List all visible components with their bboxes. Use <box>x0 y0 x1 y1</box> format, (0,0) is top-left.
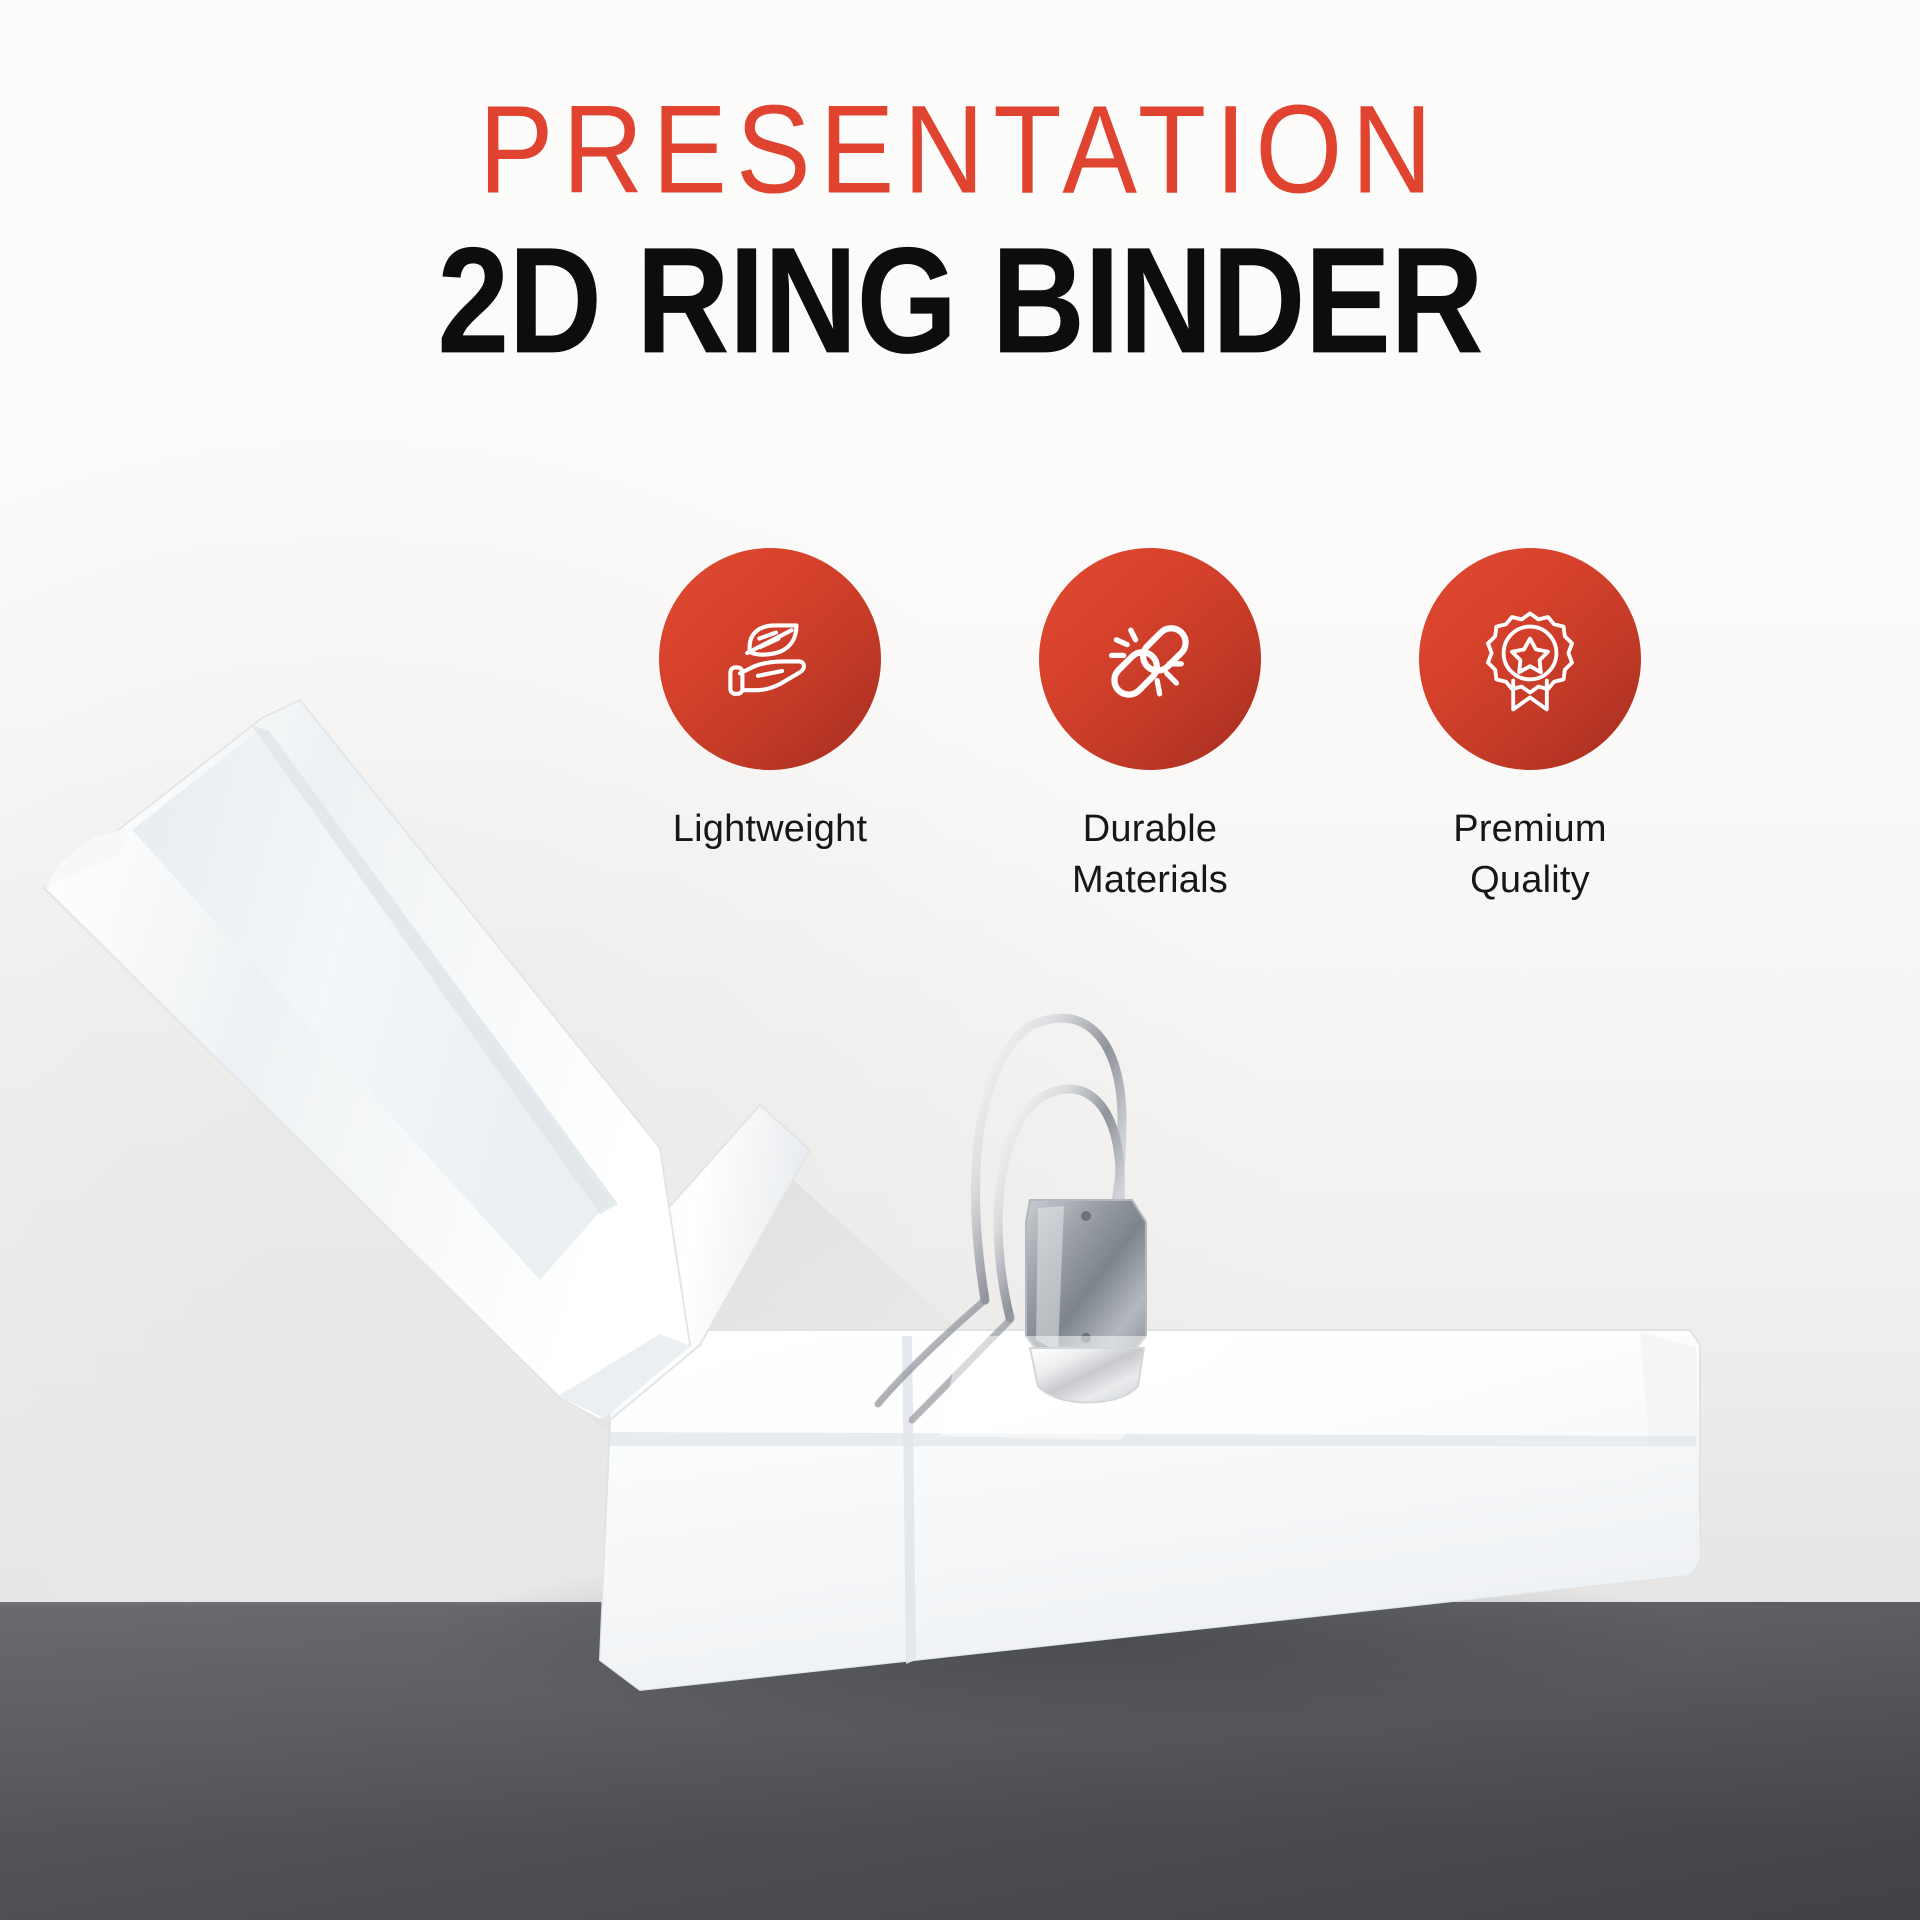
product-hero-image: PRESENTATION 2D RING BINDER Ligh <box>0 0 1920 1920</box>
feature-list: Lightweight Durable <box>620 548 1680 906</box>
feature-badge-circle <box>659 548 881 770</box>
ring-plate-rivet-top <box>1081 1211 1091 1221</box>
feature-label: Durable Materials <box>1072 804 1228 906</box>
broken-chain-link-strength-icon <box>1090 599 1210 719</box>
feature-badge-circle <box>1419 548 1641 770</box>
headline-kicker: PRESENTATION <box>0 86 1920 214</box>
headline-block: PRESENTATION 2D RING BINDER <box>0 86 1920 353</box>
headline-title: 2D RING BINDER <box>0 224 1920 378</box>
feature-durable-materials: Durable Materials <box>1000 548 1300 906</box>
hand-holding-feather-icon <box>710 599 830 719</box>
feature-label: Lightweight <box>673 804 867 855</box>
feature-lightweight: Lightweight <box>620 548 920 906</box>
feature-badge-circle <box>1039 548 1261 770</box>
award-rosette-star-icon <box>1470 599 1590 719</box>
feature-label: Premium Quality <box>1453 804 1606 906</box>
feature-premium-quality: Premium Quality <box>1380 548 1680 906</box>
